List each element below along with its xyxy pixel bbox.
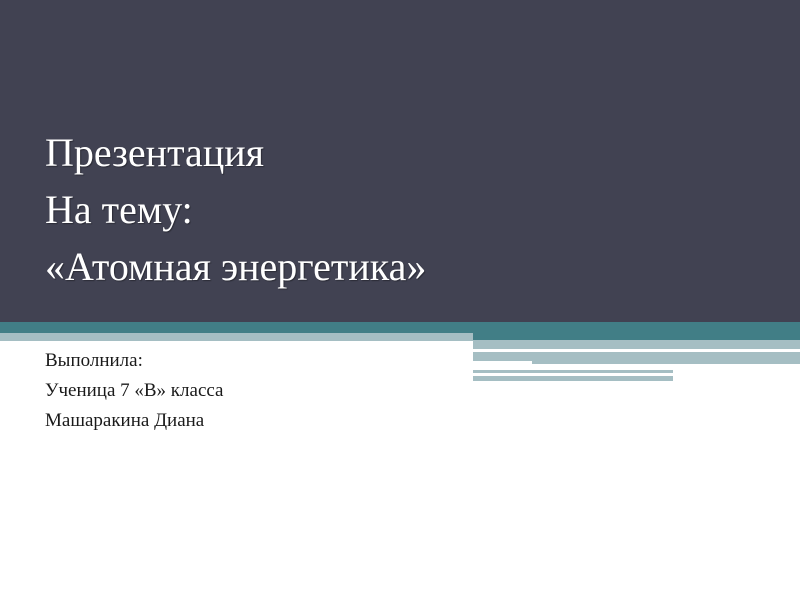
teal-band-left	[0, 322, 473, 333]
decor-stripe-2	[473, 352, 800, 361]
title-line-2: На тему:	[45, 181, 745, 238]
decor-stripe-9	[473, 376, 673, 381]
subtitle-line-2: Ученица 7 «В» класса	[45, 376, 465, 406]
teal-band-right	[473, 322, 800, 340]
slide-subtitle: Выполнила: Ученица 7 «В» класса Машараки…	[45, 346, 465, 436]
slide-title: Презентация На тему: «Атомная энергетика…	[45, 124, 745, 295]
subtitle-line-3: Машаракина Диана	[45, 406, 465, 436]
pale-band-left	[0, 333, 473, 341]
title-line-1: Презентация	[45, 124, 745, 181]
subtitle-line-1: Выполнила:	[45, 346, 465, 376]
title-line-3: «Атомная энергетика»	[45, 238, 745, 295]
pale-band-right	[473, 340, 800, 349]
slide-header-panel: Презентация На тему: «Атомная энергетика…	[0, 0, 800, 322]
title-slide: Презентация На тему: «Атомная энергетика…	[0, 0, 800, 600]
